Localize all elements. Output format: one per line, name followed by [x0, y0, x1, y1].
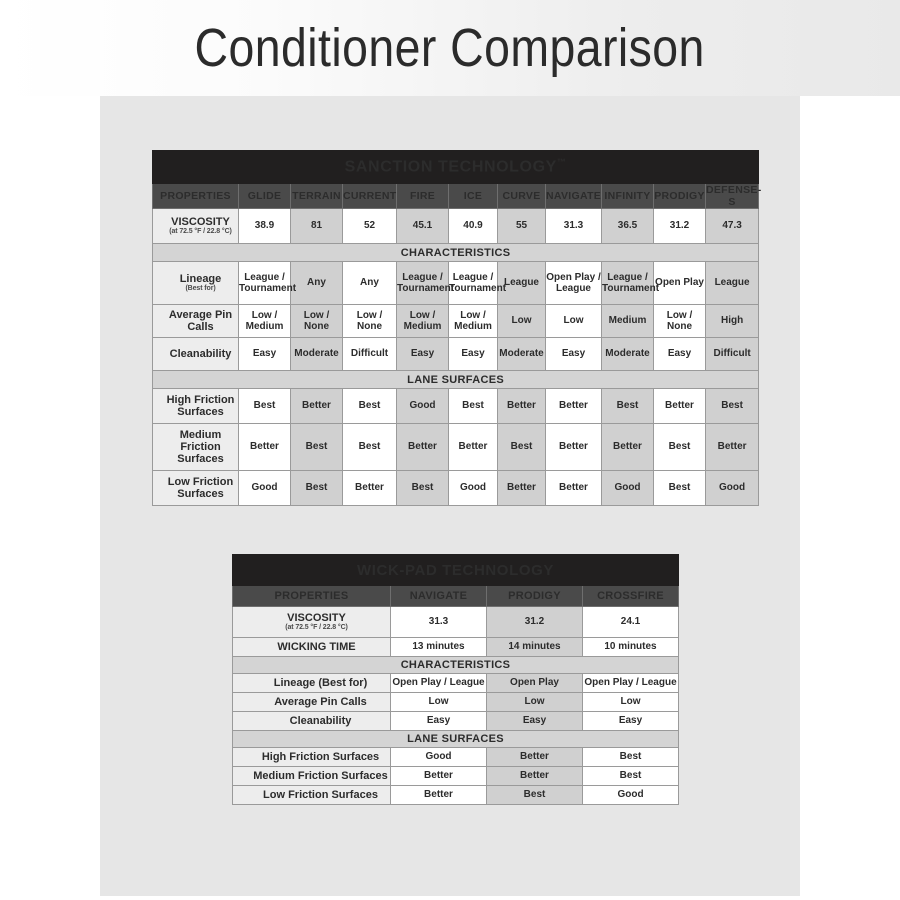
sanction-technology-table: SANCTION TECHNOLOGY™PROPERTIESGLIDETERRA… — [152, 150, 758, 506]
cell-medium-friction-surfaces-crossfire: Best — [583, 767, 679, 786]
cell-viscosity-glide: 38.9 — [239, 209, 291, 244]
section-row: CHARACTERISTICS — [153, 244, 759, 262]
row-label-average-pin-calls: Average Pin Calls — [233, 693, 391, 712]
column-header-infinity: INFINITY — [602, 184, 654, 209]
row-label-high-friction-surfaces: High Friction Surfaces — [233, 748, 391, 767]
table-row: Low Friction SurfacesGoodBestBetterBestG… — [153, 471, 759, 506]
section-label: LANE SURFACES — [153, 371, 759, 389]
cell-average-pin-calls-ice: Low / Medium — [449, 305, 498, 338]
cell-low-friction-surfaces-curve: Better — [498, 471, 546, 506]
cell-high-friction-surfaces-fire: Good — [397, 389, 449, 424]
column-header-row: PROPERTIESGLIDETERRAINCURRENTFIREICECURV… — [153, 184, 759, 209]
cell-high-friction-surfaces-curve: Better — [498, 389, 546, 424]
table-row: High Friction SurfacesGoodBetterBest — [233, 748, 679, 767]
table-row: WICKING TIME13 minutes14 minutes10 minut… — [233, 638, 679, 657]
table-row: CleanabilityEasyEasyEasy — [233, 712, 679, 731]
table-row: High Friction SurfacesBestBetterBestGood… — [153, 389, 759, 424]
cell-high-friction-surfaces-glide: Best — [239, 389, 291, 424]
cell-lineage-best-for--prodigy: Open Play — [487, 674, 583, 693]
section-row: LANE SURFACES — [233, 731, 679, 748]
banner-row: WICK-PAD TECHNOLOGY — [233, 555, 679, 586]
row-label-high-friction-surfaces: High Friction Surfaces — [153, 389, 239, 424]
row-label-cleanability: Cleanability — [233, 712, 391, 731]
table-row: VISCOSITY(at 72.5 °F / 22.8 °C)31.331.22… — [233, 607, 679, 638]
cell-cleanability-prodigy: Easy — [654, 338, 706, 371]
cell-average-pin-calls-fire: Low / Medium — [397, 305, 449, 338]
cell-low-friction-surfaces-ice: Good — [449, 471, 498, 506]
cell-low-friction-surfaces-navigate: Better — [546, 471, 602, 506]
cell-viscosity-prodigy: 31.2 — [487, 607, 583, 638]
trademark-symbol: ™ — [557, 157, 567, 167]
cell-cleanability-ice: Easy — [449, 338, 498, 371]
cell-viscosity-navigate: 31.3 — [391, 607, 487, 638]
column-header-properties: PROPERTIES — [233, 586, 391, 607]
row-label-cleanability: Cleanability — [153, 338, 239, 371]
cell-medium-friction-surfaces-glide: Better — [239, 424, 291, 471]
cell-wicking-time-crossfire: 10 minutes — [583, 638, 679, 657]
cell-low-friction-surfaces-prodigy: Best — [487, 786, 583, 805]
cell-viscosity-navigate: 31.3 — [546, 209, 602, 244]
cell-low-friction-surfaces-defense-s: Good — [706, 471, 759, 506]
column-header-ice: ICE — [449, 184, 498, 209]
cell-viscosity-prodigy: 31.2 — [654, 209, 706, 244]
cell-cleanability-navigate: Easy — [391, 712, 487, 731]
cell-lineage-prodigy: Open Play — [654, 262, 706, 305]
cell-viscosity-defense-s: 47.3 — [706, 209, 759, 244]
cell-medium-friction-surfaces-infinity: Better — [602, 424, 654, 471]
cell-low-friction-surfaces-prodigy: Best — [654, 471, 706, 506]
column-header-navigate: NAVIGATE — [546, 184, 602, 209]
cell-cleanability-terrain: Moderate — [291, 338, 343, 371]
cell-high-friction-surfaces-infinity: Best — [602, 389, 654, 424]
cell-average-pin-calls-terrain: Low / None — [291, 305, 343, 338]
cell-high-friction-surfaces-defense-s: Best — [706, 389, 759, 424]
cell-low-friction-surfaces-crossfire: Good — [583, 786, 679, 805]
row-label-sublabel: (at 72.5 °F / 22.8 °C) — [243, 624, 390, 632]
cell-cleanability-glide: Easy — [239, 338, 291, 371]
section-label: LANE SURFACES — [233, 731, 679, 748]
page-root: Conditioner Comparison SANCTION TECHNOLO… — [0, 0, 900, 900]
cell-viscosity-curve: 55 — [498, 209, 546, 244]
column-header-defense-s: DEFENSE-S — [706, 184, 759, 209]
cell-lineage-best-for--crossfire: Open Play / League — [583, 674, 679, 693]
row-label-sublabel: (Best for) — [163, 285, 238, 293]
cell-low-friction-surfaces-glide: Good — [239, 471, 291, 506]
column-header-curve: CURVE — [498, 184, 546, 209]
row-label-medium-friction-surfaces: Medium Friction Surfaces — [153, 424, 239, 471]
cell-average-pin-calls-prodigy: Low — [487, 693, 583, 712]
column-header-navigate: NAVIGATE — [391, 586, 487, 607]
cell-cleanability-current: Difficult — [343, 338, 397, 371]
cell-lineage-curve: League — [498, 262, 546, 305]
row-label-medium-friction-surfaces: Medium Friction Surfaces — [233, 767, 391, 786]
column-header-glide: GLIDE — [239, 184, 291, 209]
cell-medium-friction-surfaces-ice: Better — [449, 424, 498, 471]
cell-high-friction-surfaces-navigate: Good — [391, 748, 487, 767]
cell-medium-friction-surfaces-defense-s: Better — [706, 424, 759, 471]
table-row: Average Pin CallsLow / MediumLow / NoneL… — [153, 305, 759, 338]
row-label-viscosity: VISCOSITY(at 72.5 °F / 22.8 °C) — [153, 209, 239, 244]
section-row: LANE SURFACES — [153, 371, 759, 389]
cell-lineage-infinity: League / Tournament — [602, 262, 654, 305]
cell-medium-friction-surfaces-fire: Better — [397, 424, 449, 471]
cell-medium-friction-surfaces-navigate: Better — [391, 767, 487, 786]
cell-high-friction-surfaces-navigate: Better — [546, 389, 602, 424]
cell-high-friction-surfaces-prodigy: Better — [654, 389, 706, 424]
cell-high-friction-surfaces-current: Best — [343, 389, 397, 424]
table-row: VISCOSITY(at 72.5 °F / 22.8 °C)38.981524… — [153, 209, 759, 244]
cell-average-pin-calls-crossfire: Low — [583, 693, 679, 712]
table-row: Lineage(Best for)League / TournamentAnyA… — [153, 262, 759, 305]
cell-high-friction-surfaces-crossfire: Best — [583, 748, 679, 767]
cell-cleanability-defense-s: Difficult — [706, 338, 759, 371]
row-label-sublabel: (at 72.5 °F / 22.8 °C) — [163, 228, 238, 236]
cell-low-friction-surfaces-infinity: Good — [602, 471, 654, 506]
cell-cleanability-curve: Moderate — [498, 338, 546, 371]
cell-average-pin-calls-curve: Low — [498, 305, 546, 338]
cell-high-friction-surfaces-terrain: Better — [291, 389, 343, 424]
row-label-low-friction-surfaces: Low Friction Surfaces — [153, 471, 239, 506]
column-header-row: PROPERTIESNAVIGATEPRODIGYCROSSFIRE — [233, 586, 679, 607]
cell-medium-friction-surfaces-prodigy: Better — [487, 767, 583, 786]
cell-medium-friction-surfaces-prodigy: Best — [654, 424, 706, 471]
row-label-average-pin-calls: Average Pin Calls — [153, 305, 239, 338]
cell-average-pin-calls-prodigy: Low / None — [654, 305, 706, 338]
sanction-table-body: SANCTION TECHNOLOGY™PROPERTIESGLIDETERRA… — [153, 151, 759, 506]
section-label: CHARACTERISTICS — [233, 657, 679, 674]
cell-viscosity-terrain: 81 — [291, 209, 343, 244]
cell-high-friction-surfaces-prodigy: Better — [487, 748, 583, 767]
wickpad-banner: WICK-PAD TECHNOLOGY — [233, 555, 679, 586]
cell-viscosity-current: 52 — [343, 209, 397, 244]
column-header-terrain: TERRAIN — [291, 184, 343, 209]
cell-high-friction-surfaces-ice: Best — [449, 389, 498, 424]
cell-low-friction-surfaces-navigate: Better — [391, 786, 487, 805]
sanction-banner: SANCTION TECHNOLOGY™ — [153, 151, 759, 184]
row-label-wicking-time: WICKING TIME — [233, 638, 391, 657]
table-row: Medium Friction SurfacesBetterBestBestBe… — [153, 424, 759, 471]
column-header-fire: FIRE — [397, 184, 449, 209]
wickpad-technology-table: WICK-PAD TECHNOLOGYPROPERTIESNAVIGATEPRO… — [232, 554, 678, 805]
cell-viscosity-infinity: 36.5 — [602, 209, 654, 244]
cell-medium-friction-surfaces-navigate: Better — [546, 424, 602, 471]
column-header-current: CURRENT — [343, 184, 397, 209]
cell-average-pin-calls-current: Low / None — [343, 305, 397, 338]
cell-medium-friction-surfaces-curve: Best — [498, 424, 546, 471]
table-row: Lineage (Best for)Open Play / LeagueOpen… — [233, 674, 679, 693]
cell-lineage-best-for--navigate: Open Play / League — [391, 674, 487, 693]
cell-wicking-time-prodigy: 14 minutes — [487, 638, 583, 657]
row-label-lineage-best-for-: Lineage (Best for) — [233, 674, 391, 693]
cell-average-pin-calls-navigate: Low — [546, 305, 602, 338]
cell-lineage-defense-s: League — [706, 262, 759, 305]
column-header-properties: PROPERTIES — [153, 184, 239, 209]
column-header-prodigy: PRODIGY — [654, 184, 706, 209]
table-row: Low Friction SurfacesBetterBestGood — [233, 786, 679, 805]
cell-low-friction-surfaces-terrain: Best — [291, 471, 343, 506]
cell-medium-friction-surfaces-terrain: Best — [291, 424, 343, 471]
cell-average-pin-calls-navigate: Low — [391, 693, 487, 712]
table-row: Average Pin CallsLowLowLow — [233, 693, 679, 712]
cell-wicking-time-navigate: 13 minutes — [391, 638, 487, 657]
column-header-crossfire: CROSSFIRE — [583, 586, 679, 607]
column-header-prodigy: PRODIGY — [487, 586, 583, 607]
cell-lineage-navigate: Open Play / League — [546, 262, 602, 305]
cell-cleanability-crossfire: Easy — [583, 712, 679, 731]
cell-lineage-ice: League / Tournament — [449, 262, 498, 305]
table-row: CleanabilityEasyModerateDifficultEasyEas… — [153, 338, 759, 371]
cell-viscosity-fire: 45.1 — [397, 209, 449, 244]
cell-average-pin-calls-glide: Low / Medium — [239, 305, 291, 338]
section-row: CHARACTERISTICS — [233, 657, 679, 674]
wickpad-table-body: WICK-PAD TECHNOLOGYPROPERTIESNAVIGATEPRO… — [233, 555, 679, 805]
cell-lineage-current: Any — [343, 262, 397, 305]
row-label-viscosity: VISCOSITY(at 72.5 °F / 22.8 °C) — [233, 607, 391, 638]
row-label-low-friction-surfaces: Low Friction Surfaces — [233, 786, 391, 805]
cell-low-friction-surfaces-current: Better — [343, 471, 397, 506]
cell-cleanability-infinity: Moderate — [602, 338, 654, 371]
page-title: Conditioner Comparison — [195, 17, 705, 79]
cell-viscosity-crossfire: 24.1 — [583, 607, 679, 638]
cell-lineage-glide: League / Tournament — [239, 262, 291, 305]
table-row: Medium Friction SurfacesBetterBetterBest — [233, 767, 679, 786]
row-label-lineage: Lineage(Best for) — [153, 262, 239, 305]
cell-average-pin-calls-defense-s: High — [706, 305, 759, 338]
banner-row: SANCTION TECHNOLOGY™ — [153, 151, 759, 184]
title-band: Conditioner Comparison — [0, 0, 900, 96]
cell-lineage-terrain: Any — [291, 262, 343, 305]
cell-medium-friction-surfaces-current: Best — [343, 424, 397, 471]
content-panel: SANCTION TECHNOLOGY™PROPERTIESGLIDETERRA… — [100, 96, 800, 896]
cell-viscosity-ice: 40.9 — [449, 209, 498, 244]
cell-low-friction-surfaces-fire: Best — [397, 471, 449, 506]
cell-cleanability-navigate: Easy — [546, 338, 602, 371]
cell-average-pin-calls-infinity: Medium — [602, 305, 654, 338]
cell-lineage-fire: League / Tournament — [397, 262, 449, 305]
cell-cleanability-fire: Easy — [397, 338, 449, 371]
cell-cleanability-prodigy: Easy — [487, 712, 583, 731]
section-label: CHARACTERISTICS — [153, 244, 759, 262]
